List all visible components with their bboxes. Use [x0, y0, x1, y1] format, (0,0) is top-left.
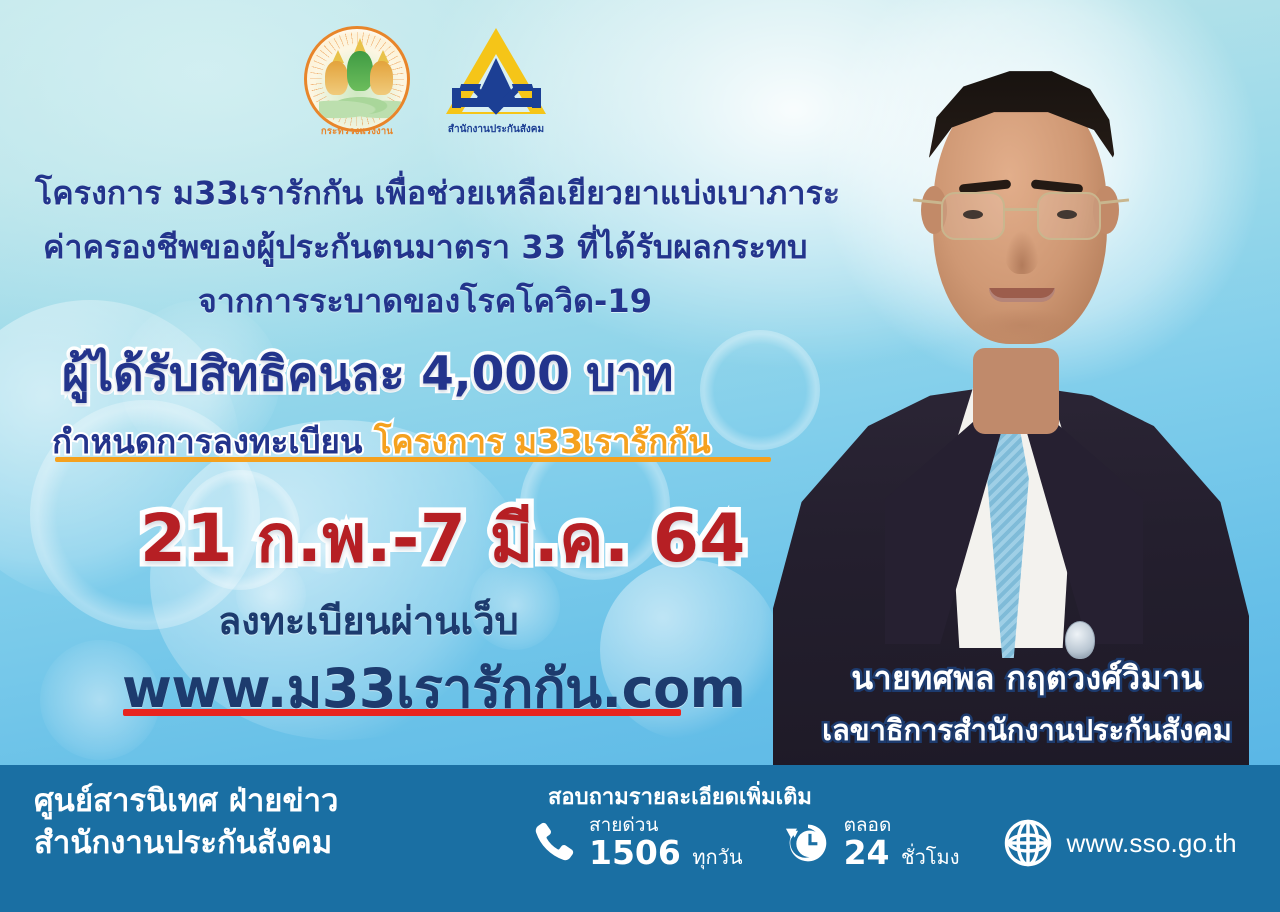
person-name: นายทศพล กฤตวงศ์วิมาน	[792, 653, 1262, 704]
registration-url[interactable]: www.ม33เรารักกัน.com	[122, 645, 745, 731]
headline-line-3: จากการระบาดของโรคโควิด-19	[198, 276, 652, 327]
orange-divider	[55, 457, 771, 462]
person-caption: นายทศพล กฤตวงศ์วิมาน เลขาธิการสำนักงานปร…	[792, 653, 1262, 753]
globe-icon	[1000, 815, 1056, 871]
ministry-of-labour-logo: กระทรวงแรงงาน	[298, 26, 416, 148]
hotline-number: 1506	[589, 833, 681, 872]
poster-root: กระทรวงแรงงาน สำนักงานประกันสังคม โครงกา…	[0, 0, 1280, 912]
footer-bar: ศูนย์สารนิเทศ ฝ่ายข่าว สำนักงานประกันสัง…	[0, 765, 1280, 912]
logo-row: กระทรวงแรงงาน สำนักงานประกันสังคม	[298, 26, 558, 148]
social-security-office-logo: สำนักงานประกันสังคม	[434, 26, 558, 148]
person-position: เลขาธิการสำนักงานประกันสังคม	[792, 707, 1262, 753]
hotline-suffix: ทุกวัน	[692, 845, 742, 869]
clock-icon	[783, 818, 833, 868]
footer-contact-items: สายด่วน 1506 ทุกวัน ตลอด 24 ชั่วโมง	[528, 815, 1237, 871]
footer-org-line-2: สำนักงานประกันสังคม	[34, 823, 338, 865]
footer-ask-more: สอบถามรายละเอียดเพิ่มเติม	[548, 779, 812, 814]
benefit-amount: ผู้ได้รับสิทธิคนละ 4,000 บาท	[62, 336, 673, 411]
footer-service-hours: ตลอด 24 ชั่วโมง	[783, 816, 960, 871]
phone-icon	[528, 818, 578, 868]
register-via-web-label: ลงทะเบียนผ่านเว็บ	[218, 590, 519, 651]
hours-suffix: ชั่วโมง	[901, 845, 960, 869]
headline-line-2: ค่าครองชีพของผู้ประกันตนมาตรา 33 ที่ได้ร…	[43, 222, 807, 273]
headline-line-1: โครงการ ม33เรารักกัน เพื่อช่วยเหลือเยียว…	[35, 168, 840, 219]
footer-website[interactable]: www.sso.go.th	[1000, 815, 1237, 871]
project-name-highlight: โครงการ ม33เรารักกัน	[374, 422, 711, 461]
footer-org-line-1: ศูนย์สารนิเทศ ฝ่ายข่าว	[34, 781, 338, 823]
url-underline	[123, 709, 681, 716]
hours-number: 24	[844, 833, 890, 872]
ministry-logo-caption: กระทรวงแรงงาน	[298, 124, 416, 139]
registration-dates: 21 ก.พ.-7 มี.ค. 64	[140, 486, 746, 591]
footer-organization: ศูนย์สารนิเทศ ฝ่ายข่าว สำนักงานประกันสัง…	[34, 781, 338, 864]
footer-hotline[interactable]: สายด่วน 1506 ทุกวัน	[528, 816, 743, 871]
sso-logo-caption: สำนักงานประกันสังคม	[434, 122, 558, 137]
website-url: www.sso.go.th	[1067, 828, 1237, 859]
registration-label-text: กำหนดการลงทะเบียน	[52, 422, 374, 461]
